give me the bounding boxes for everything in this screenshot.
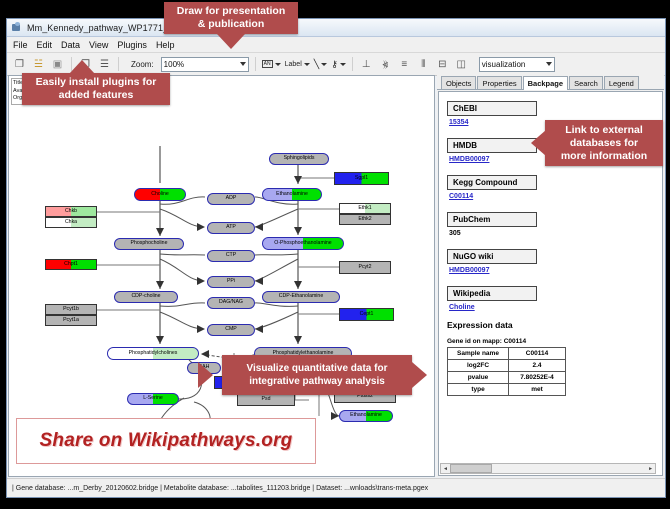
database-header-nugo-wiki: NuGO wiki: [447, 249, 537, 264]
pathway-node-label: PPi: [227, 279, 235, 284]
callout-plugins-text: Easily install plugins for added feature…: [36, 76, 157, 102]
callout-links-text: Link to external databases for more info…: [561, 124, 647, 163]
share-banner: Share on Wikipathways.org: [16, 418, 316, 464]
menubar: File Edit Data View Plugins Help: [7, 37, 665, 53]
side-panel-tabs: Objects Properties Backpage Search Legen…: [437, 75, 664, 90]
datanode-tool[interactable]: AN: [262, 60, 281, 68]
line-icon: ╲: [314, 59, 319, 70]
backpage-hscrollbar[interactable]: ◄ ►: [440, 463, 656, 474]
tab-legend[interactable]: Legend: [604, 76, 639, 89]
expression-table: Sample nameC00114log2FC2.4pvalue7.80252E…: [447, 347, 566, 396]
database-link-nugo-wiki[interactable]: HMDB00097: [449, 267, 662, 274]
line-tool[interactable]: ╲: [314, 59, 327, 70]
pathway-node-label: Sphingolipids: [284, 156, 315, 161]
pathway-node-adp[interactable]: ADP: [207, 193, 255, 205]
pathway-node-label: Choline: [151, 192, 169, 197]
callout-links: Link to external databases for more info…: [545, 120, 663, 166]
expression-key: pvalue: [448, 372, 509, 384]
menu-file[interactable]: File: [13, 40, 28, 50]
stack-icon[interactable]: ⊟: [435, 57, 450, 72]
pathway-node-pcyt1a[interactable]: Pcyt1a: [45, 315, 97, 326]
pathway-node-label: DAG/NAG: [219, 300, 243, 305]
gene-id-line: Gene id on mapp: C00114: [447, 338, 662, 345]
expression-data-heading: Expression data: [447, 320, 662, 330]
callout-visualize-arrow-right: [412, 362, 427, 388]
pathway-node-sphingolipids[interactable]: Sphingolipids: [269, 153, 329, 165]
pathway-node-cdpethanolamine[interactable]: CDP-Ethanolamine: [262, 291, 340, 303]
group-icon[interactable]: ◫: [454, 57, 469, 72]
open-folder-icon[interactable]: ☱: [31, 57, 46, 72]
app-icon: [11, 22, 22, 33]
receptor-tool[interactable]: ⚷: [331, 59, 346, 70]
menu-edit[interactable]: Edit: [37, 40, 53, 50]
expression-row: pvalue7.80252E-4: [448, 372, 566, 384]
toolbar-separator-2: [118, 57, 119, 71]
pathway-node-ppi[interactable]: PPi: [207, 276, 255, 288]
save-icon[interactable]: ▣: [50, 57, 65, 72]
pathway-node-label: Phosphatidylcholines: [129, 351, 178, 356]
pathway-node-phosphocholine[interactable]: Phosphocholine: [114, 238, 184, 250]
callout-draw: Draw for presentation & publication: [164, 2, 298, 34]
pathway-node-ethk2[interactable]: Ethk2: [339, 214, 391, 225]
label-tool-text: Label: [285, 61, 302, 68]
expression-value: C00114: [509, 348, 566, 360]
pathway-canvas[interactable]: Title: Availa Organ: [8, 75, 435, 477]
pathway-node-label: CMP: [225, 327, 237, 332]
pathway-node-ophosphoeth[interactable]: O-Phosphoethanolamine: [262, 237, 344, 250]
database-header-pubchem: PubChem: [447, 212, 537, 227]
pathway-node-chpt1[interactable]: Chpt1: [45, 259, 97, 270]
pathway-node-label: Chpt1: [64, 262, 78, 267]
zoom-combo[interactable]: 100%: [161, 57, 249, 72]
expression-row: typemet: [448, 384, 566, 396]
pathway-node-label: Ethanolamine: [276, 192, 308, 197]
window-titlebar: Mm_Kennedy_pathway_WP1771_45176.gpml: [7, 19, 665, 37]
database-value-pubchem: 305: [449, 230, 662, 237]
pathway-node-label: ADP: [226, 196, 237, 201]
chevron-down-icon: [546, 62, 552, 66]
database-link-wikipedia[interactable]: Choline: [449, 304, 662, 311]
pathway-node-lserine-left[interactable]: L-Serine: [127, 393, 179, 405]
menu-plugins[interactable]: Plugins: [117, 40, 147, 50]
distribute-icon[interactable]: ⦀: [416, 57, 431, 72]
pathway-node-chka[interactable]: Chka: [45, 217, 97, 228]
pathway-node-label: Ptdss2: [357, 394, 373, 399]
pathway-node-dagnag[interactable]: DAG/NAG: [207, 297, 255, 309]
database-header-hmdb: HMDB: [447, 138, 537, 153]
paste-icon[interactable]: ☰: [97, 57, 112, 72]
receptor-icon: ⚷: [331, 59, 338, 70]
pathway-node-ethanolamine1[interactable]: Ethanolamine: [262, 188, 322, 201]
screenshot-root: Mm_Kennedy_pathway_WP1771_45176.gpml Fil…: [0, 0, 670, 509]
align-top-icon[interactable]: ⊥: [359, 57, 374, 72]
pathway-node-label: Pcyt1b: [63, 307, 79, 312]
zoom-label: Zoom:: [131, 60, 154, 69]
pathway-node-atp[interactable]: ATP: [207, 222, 255, 234]
chevron-down-icon: [321, 63, 327, 66]
align-rows-icon[interactable]: ≡: [397, 57, 412, 72]
database-header-kegg-compound: Kegg Compound: [447, 175, 537, 190]
new-file-icon[interactable]: ❐: [12, 57, 27, 72]
pathway-node-label: Sgpl1: [355, 176, 368, 181]
chevron-down-icon: [340, 63, 346, 66]
pathway-node-choline-top[interactable]: Choline: [134, 188, 186, 201]
pathway-node-label: L-Serine: [143, 396, 163, 401]
callout-draw-arrow: [217, 34, 245, 49]
datanode-icon: AN: [262, 60, 273, 68]
pathway-node-cmp[interactable]: CMP: [207, 324, 255, 336]
pathway-node-label: ATP: [226, 225, 236, 230]
callout-visualize: Visualize quantitative data for integrat…: [222, 355, 412, 395]
expression-key: log2FC: [448, 360, 509, 372]
status-bar: | Gene database: ...m_Derby_20120602.bri…: [7, 478, 665, 497]
pathway-node-label: Chkb: [65, 209, 77, 214]
expression-value: 7.80252E-4: [509, 372, 566, 384]
pathway-node-label: Ethk2: [358, 217, 371, 222]
menu-view[interactable]: View: [89, 40, 108, 50]
callout-visualize-arrow: [198, 362, 213, 388]
tab-search[interactable]: Search: [569, 76, 603, 89]
scroll-thumb[interactable]: [450, 464, 492, 473]
chevron-down-icon: [275, 63, 281, 66]
pathway-node-label: CDP-choline: [131, 294, 160, 299]
pathway-node-label: Ethk1: [358, 206, 371, 211]
zoom-value: 100%: [164, 60, 184, 69]
pathway-node-label: Cept1: [360, 312, 374, 317]
pathway-node-cdpcholine[interactable]: CDP-choline: [114, 291, 178, 303]
align-left-icon[interactable]: ⦖: [378, 57, 393, 72]
expression-value: 2.4: [509, 360, 566, 372]
pathway-node-label: Psd: [262, 397, 271, 402]
visualization-combo[interactable]: visualization: [479, 57, 555, 72]
menu-data[interactable]: Data: [61, 40, 80, 50]
pathway-node-label: Pcyt1a: [63, 318, 79, 323]
label-tool[interactable]: Label: [285, 61, 310, 68]
callout-visualize-text: Visualize quantitative data for integrat…: [247, 362, 388, 388]
database-header-wikipedia: Wikipedia: [447, 286, 537, 301]
tab-objects[interactable]: Objects: [441, 76, 476, 89]
pathway-node-sgpl1[interactable]: Sgpl1: [334, 172, 389, 185]
pathway-node-phosphatidylcholines[interactable]: Phosphatidylcholines: [107, 347, 199, 360]
scroll-left-icon[interactable]: ◄: [441, 464, 450, 473]
pathway-node-pcyt2[interactable]: Pcyt2: [339, 261, 391, 274]
toolbar-separator-4: [352, 57, 353, 71]
pathway-node-chkb[interactable]: Chkb: [45, 206, 97, 217]
callout-plugins-arrow: [69, 60, 95, 74]
toolbar-separator-3: [255, 57, 256, 71]
pathway-node-label: Phosphocholine: [131, 241, 168, 246]
pathway-node-label: Pcyt2: [359, 265, 372, 270]
pathway-node-label: CDP-Ethanolamine: [279, 294, 323, 299]
share-banner-text: Share on Wikipathways.org: [40, 430, 293, 452]
database-header-chebi: ChEBI: [447, 101, 537, 116]
pathway-node-label: O-Phosphoethanolamine: [274, 241, 331, 246]
callout-links-arrow: [531, 130, 546, 156]
expression-row: log2FC2.4: [448, 360, 566, 372]
expression-key: Sample name: [448, 348, 509, 360]
pathway-node-label: CTP: [226, 253, 236, 258]
expression-row: Sample nameC00114: [448, 348, 566, 360]
pathway-node-ethanolamine2[interactable]: Ethanolamine: [339, 410, 393, 422]
callout-draw-text: Draw for presentation & publication: [177, 5, 286, 31]
visualization-value: visualization: [482, 60, 526, 69]
pathway-node-label: Ethanolamine: [350, 413, 382, 418]
pathway-node-ctp[interactable]: CTP: [207, 250, 255, 262]
scroll-right-icon[interactable]: ►: [646, 464, 655, 473]
expression-key: type: [448, 384, 509, 396]
tab-properties[interactable]: Properties: [477, 76, 521, 89]
pathway-node-label: Chka: [65, 220, 77, 225]
pathway-node-ethk1[interactable]: Ethk1: [339, 203, 391, 214]
database-link-kegg-compound[interactable]: C00114: [449, 193, 662, 200]
expression-value: met: [509, 384, 566, 396]
chevron-down-icon: [240, 62, 246, 66]
status-text: | Gene database: ...m_Derby_20120602.bri…: [12, 485, 428, 492]
pathway-node-cept1[interactable]: Cept1: [339, 308, 394, 321]
chevron-down-icon: [304, 63, 310, 66]
callout-plugins: Easily install plugins for added feature…: [22, 73, 170, 105]
pathway-node-pcyt1b[interactable]: Pcyt1b: [45, 304, 97, 315]
tab-backpage[interactable]: Backpage: [523, 76, 568, 90]
menu-help[interactable]: Help: [156, 40, 175, 50]
